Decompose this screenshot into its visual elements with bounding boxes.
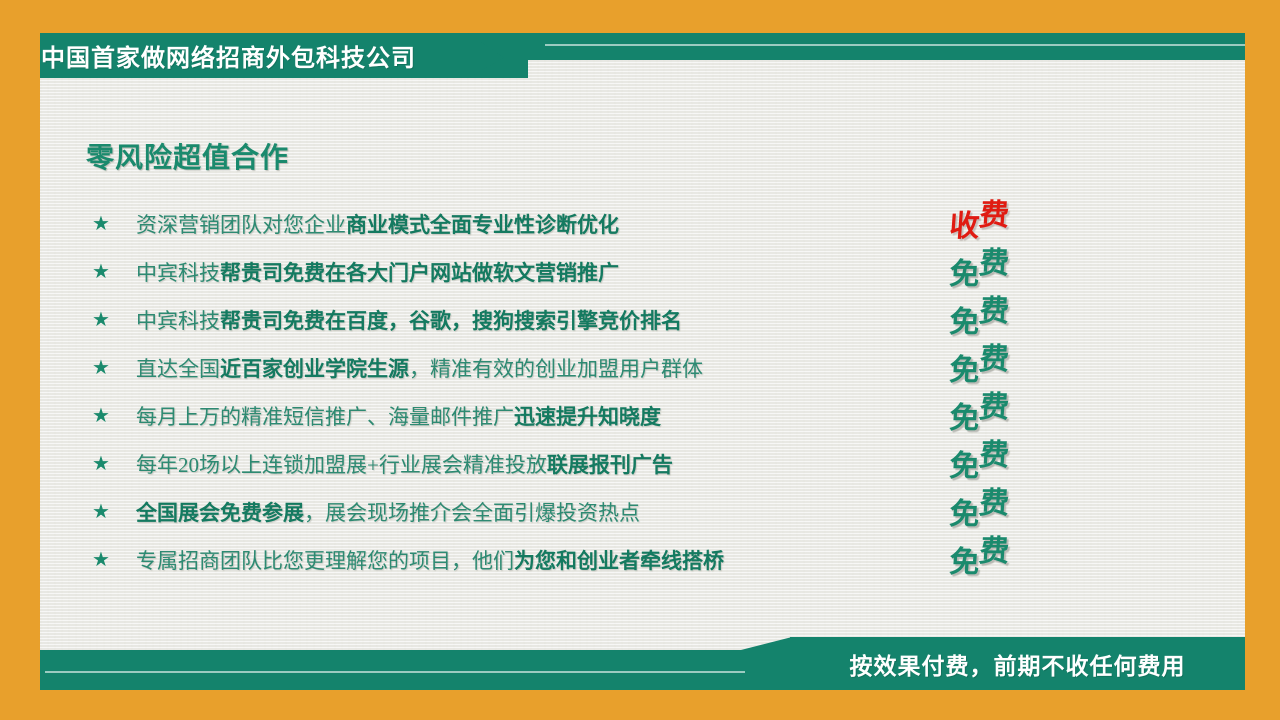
benefit-text-plain: 中宾科技	[136, 309, 220, 333]
star-icon: ★	[92, 310, 136, 330]
benefit-text: 每月上万的精准短信推广、海量邮件推广迅速提升知晓度	[136, 401, 661, 431]
footer-slogan-text: 按效果付费，前期不收任何费用	[850, 647, 1186, 681]
badge-free: 免费	[948, 244, 1009, 288]
benefit-text-emphasis: 为您和创业者牵线搭桥	[514, 549, 724, 573]
badge-char: 收	[948, 201, 980, 245]
benefit-text: 直达全国近百家创业学院生源，精准有效的创业加盟用户群体	[136, 353, 703, 383]
badge-free: 免费	[948, 292, 1009, 336]
benefit-row: ★专属招商团队比您更理解您的项目，他们为您和创业者牵线搭桥	[92, 536, 932, 584]
badge-row: 免费	[950, 530, 1070, 578]
benefit-row: ★中宾科技帮贵司免费在各大门户网站做软文营销推广	[92, 248, 932, 296]
footer-slogan: 按效果付费，前期不收任何费用	[790, 637, 1245, 690]
benefit-text-plain: ，精准有效的创业加盟用户群体	[409, 357, 703, 381]
badge-char: 免	[948, 489, 980, 533]
badge-char: 费	[978, 382, 1010, 426]
badge-char: 免	[948, 297, 980, 341]
star-icon: ★	[92, 262, 136, 282]
badge-char: 费	[978, 238, 1010, 282]
badge-char: 免	[948, 393, 980, 437]
badge-free: 免费	[948, 388, 1009, 432]
benefit-text-plain: ，展会现场推介会全面引爆投资热点	[304, 501, 640, 525]
badge-row: 免费	[950, 290, 1070, 338]
benefit-text-emphasis: 全国展会免费参展	[136, 501, 304, 525]
benefit-text-emphasis: 近百家创业学院生源	[220, 357, 409, 381]
benefit-text-emphasis: 商业模式全面专业性诊断优化	[346, 213, 619, 237]
slide: 中国首家做网络招商外包科技公司 零风险超值合作 ★资深营销团队对您企业商业模式全…	[0, 0, 1280, 720]
badge-free: 免费	[948, 532, 1009, 576]
badge-row: 免费	[950, 482, 1070, 530]
benefit-text-plain: 直达全国	[136, 357, 220, 381]
badge-char: 费	[978, 334, 1010, 378]
badge-paid: 收费	[948, 196, 1009, 240]
star-icon: ★	[92, 454, 136, 474]
benefit-row: ★资深营销团队对您企业商业模式全面专业性诊断优化	[92, 200, 932, 248]
benefit-text-plain: 中宾科技	[136, 261, 220, 285]
badge-char: 免	[948, 537, 980, 581]
benefit-text-emphasis: 帮贵司免费在百度，谷歌，搜狗搜索引擎竞价排名	[220, 309, 682, 333]
benefit-list: ★资深营销团队对您企业商业模式全面专业性诊断优化★中宾科技帮贵司免费在各大门户网…	[92, 200, 932, 584]
badge-free: 免费	[948, 436, 1009, 480]
benefit-text-emphasis: 联展报刊广告	[547, 453, 673, 477]
benefit-row: ★中宾科技帮贵司免费在百度，谷歌，搜狗搜索引擎竞价排名	[92, 296, 932, 344]
star-icon: ★	[92, 502, 136, 522]
star-icon: ★	[92, 214, 136, 234]
badge-char: 费	[978, 286, 1010, 330]
benefit-text: 全国展会免费参展，展会现场推介会全面引爆投资热点	[136, 497, 640, 527]
benefit-text: 中宾科技帮贵司免费在百度，谷歌，搜狗搜索引擎竞价排名	[136, 305, 682, 335]
badge-free: 免费	[948, 340, 1009, 384]
page-title: 零风险超值合作	[86, 136, 289, 176]
benefit-text-plain: 专属招商团队比您更理解您的项目，他们	[136, 549, 514, 573]
badge-column: 收费免费免费免费免费免费免费免费	[950, 194, 1070, 578]
badge-row: 免费	[950, 386, 1070, 434]
benefit-text-plain: 资深营销团队对您企业	[136, 213, 346, 237]
benefit-text-emphasis: 帮贵司免费在各大门户网站做软文营销推广	[220, 261, 619, 285]
badge-row: 免费	[950, 242, 1070, 290]
benefit-row: ★直达全国近百家创业学院生源，精准有效的创业加盟用户群体	[92, 344, 932, 392]
benefit-row: ★每月上万的精准短信推广、海量邮件推广迅速提升知晓度	[92, 392, 932, 440]
header-title: 中国首家做网络招商外包科技公司	[40, 33, 416, 78]
badge-char: 费	[978, 526, 1010, 570]
badge-free: 免费	[948, 484, 1009, 528]
badge-char: 免	[948, 441, 980, 485]
benefit-text: 专属招商团队比您更理解您的项目，他们为您和创业者牵线搭桥	[136, 545, 724, 575]
benefit-row: ★每年20场以上连锁加盟展+行业展会精准投放联展报刊广告	[92, 440, 932, 488]
badge-char: 费	[978, 478, 1010, 522]
badge-row: 免费	[950, 434, 1070, 482]
benefit-text: 每年20场以上连锁加盟展+行业展会精准投放联展报刊广告	[136, 449, 673, 479]
badge-row: 收费	[950, 194, 1070, 242]
badge-row: 免费	[950, 338, 1070, 386]
star-icon: ★	[92, 406, 136, 426]
benefit-text-emphasis: 迅速提升知晓度	[514, 405, 661, 429]
benefit-text-plain: 每年20场以上连锁加盟展+行业展会精准投放	[136, 453, 547, 477]
badge-char: 免	[948, 345, 980, 389]
badge-char: 费	[978, 430, 1010, 474]
star-icon: ★	[92, 550, 136, 570]
benefit-text: 资深营销团队对您企业商业模式全面专业性诊断优化	[136, 209, 619, 239]
benefit-row: ★全国展会免费参展，展会现场推介会全面引爆投资热点	[92, 488, 932, 536]
header-accent-line	[545, 44, 1245, 46]
benefit-text-plain: 每月上万的精准短信推广、海量邮件推广	[136, 405, 514, 429]
badge-char: 费	[978, 190, 1010, 234]
star-icon: ★	[92, 358, 136, 378]
benefit-text: 中宾科技帮贵司免费在各大门户网站做软文营销推广	[136, 257, 619, 287]
footer-accent-line	[45, 671, 745, 673]
header-title-text: 中国首家做网络招商外包科技公司	[41, 38, 416, 73]
badge-char: 免	[948, 249, 980, 293]
